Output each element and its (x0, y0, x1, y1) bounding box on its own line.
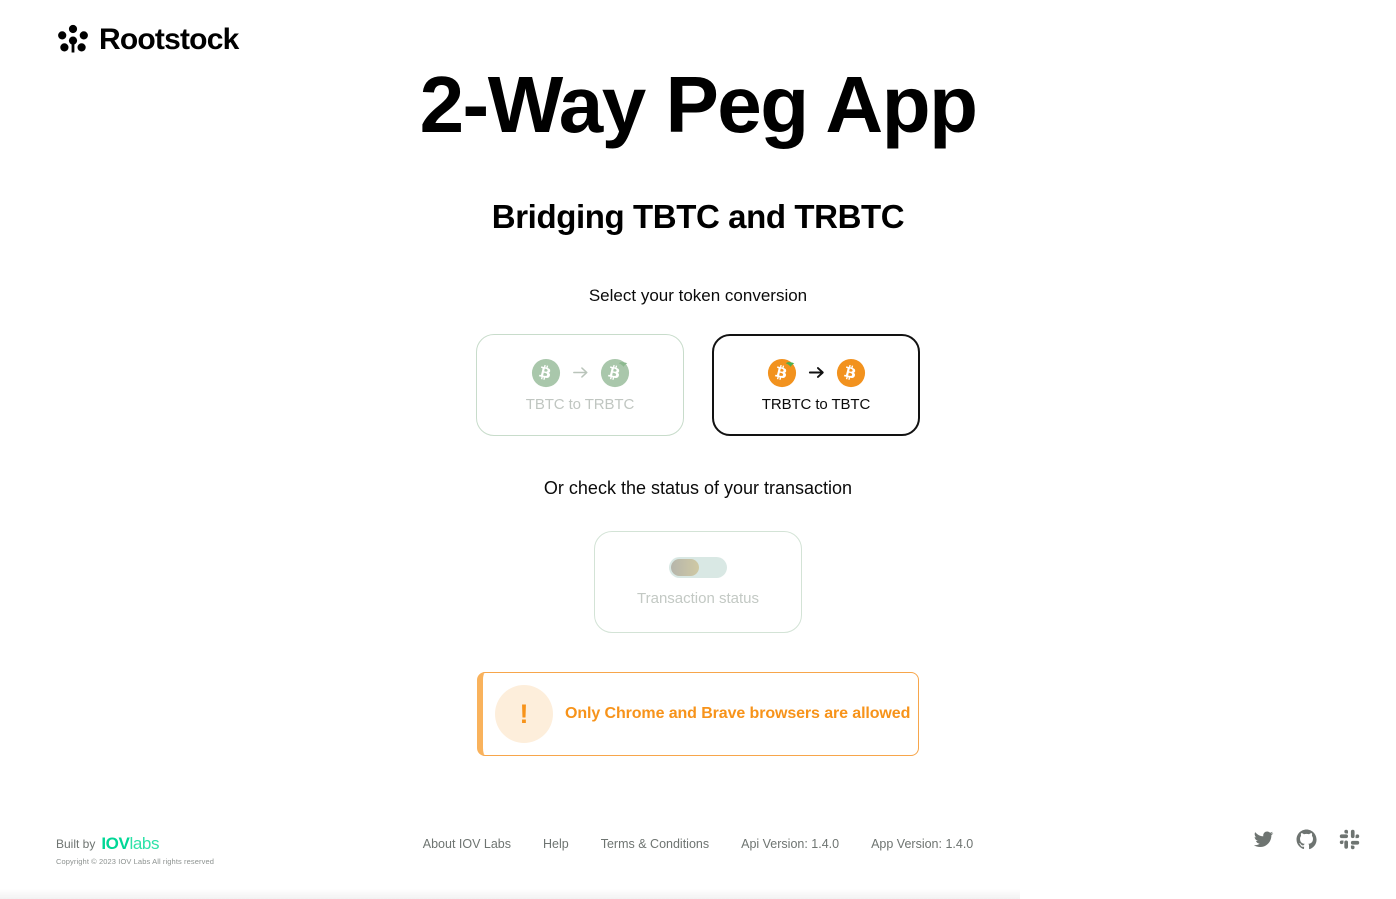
conversion-card-trbtc-to-tbtc[interactable]: TRBTC to TBTC (712, 334, 920, 436)
github-link[interactable] (1296, 829, 1317, 850)
app-version-text: App Version: 1.4.0 (871, 837, 973, 851)
conversion-card-label: TBTC to TRBTC (526, 396, 634, 413)
conversion-card-label: TRBTC to TBTC (762, 396, 870, 413)
conversion-card-list: TBTC to TRBTC TRBTC to TBTC (0, 334, 1396, 436)
exclamation-icon: ! (495, 685, 553, 743)
slack-icon (1339, 829, 1360, 850)
page-subtitle: Bridging TBTC and TRBTC (0, 198, 1396, 236)
page-root: Rootstock 2-Way Peg App Bridging TBTC an… (0, 0, 1396, 899)
transaction-status-card[interactable]: Transaction status (594, 531, 802, 633)
arrow-right-icon (807, 363, 826, 382)
conversion-section-label: Select your token conversion (0, 286, 1396, 306)
page-title: 2-Way Peg App (0, 62, 1396, 148)
bitcoin-coin-icon (531, 358, 561, 388)
footer: Built by IOVlabs Copyright © 2023 IOV La… (0, 825, 1396, 899)
footer-link-list: About IOV Labs Help Terms & Conditions A… (0, 837, 1396, 851)
slack-link[interactable] (1339, 829, 1360, 850)
search-pill-inner (671, 559, 699, 576)
conversion-icons (767, 358, 866, 388)
twitter-link[interactable] (1253, 829, 1274, 850)
arrow-right-icon (571, 363, 590, 382)
copyright-text: Copyright © 2023 IOV Labs All rights res… (56, 857, 214, 866)
exclamation-glyph: ! (520, 701, 529, 728)
rootstock-bitcoin-coin-icon (767, 358, 797, 388)
conversion-card-tbtc-to-trbtc[interactable]: TBTC to TRBTC (476, 334, 684, 436)
footer-link-help[interactable]: Help (543, 837, 569, 851)
brand-logo-text: Rootstock (99, 25, 238, 55)
footer-link-terms-and-conditions[interactable]: Terms & Conditions (601, 837, 709, 851)
status-section-label: Or check the status of your transaction (0, 478, 1396, 499)
twitter-icon (1253, 829, 1274, 850)
footer-link-about-iov-labs[interactable]: About IOV Labs (423, 837, 511, 851)
bitcoin-coin-icon (836, 358, 866, 388)
rootstock-flower-icon (56, 23, 90, 57)
brand-logo[interactable]: Rootstock (56, 23, 238, 57)
search-pill-icon (669, 557, 727, 578)
browser-warning-message: Only Chrome and Brave browsers are allow… (565, 705, 910, 723)
browser-warning-banner: ! Only Chrome and Brave browsers are all… (477, 672, 919, 756)
social-link-list (1253, 829, 1360, 850)
transaction-status-label: Transaction status (637, 590, 759, 607)
github-icon (1296, 829, 1317, 850)
bottom-edge-shadow (0, 889, 1020, 899)
api-version-text: Api Version: 1.4.0 (741, 837, 839, 851)
rootstock-bitcoin-coin-icon (600, 358, 630, 388)
conversion-icons (531, 358, 630, 388)
